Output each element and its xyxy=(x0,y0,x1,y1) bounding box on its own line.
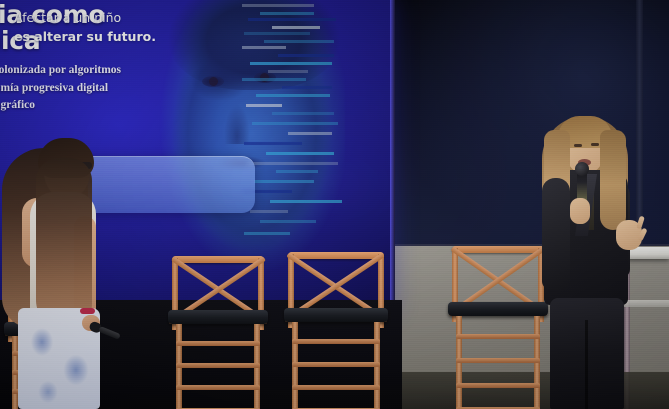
stool-rung xyxy=(176,385,260,390)
slide-callout-text: Afectar a un niño es alterar su futuro. xyxy=(14,8,184,46)
speaker-arm-left xyxy=(542,178,570,290)
stool-seat-cushion xyxy=(284,308,388,322)
slide-bullets: nación colonizada por algoritmos y auton… xyxy=(0,62,208,115)
stool-rung xyxy=(292,385,380,390)
slide-bullet-1: y autonomía progresiva digital xyxy=(0,80,208,98)
speaker-trouser-seam xyxy=(585,320,588,409)
speaker-hair-right xyxy=(600,130,626,230)
mic-head-right xyxy=(575,162,589,176)
stool-rung xyxy=(292,339,380,344)
slide-bullet-0: nación colonizada por algoritmos xyxy=(0,62,208,80)
screen-right-edge xyxy=(390,0,395,312)
person-attendee-left xyxy=(0,140,116,409)
stage-photo: ncia como única nación colonizada por al… xyxy=(0,0,669,409)
speaker-eye-right xyxy=(591,143,599,146)
stool-rung xyxy=(292,362,380,367)
bar-stool xyxy=(172,256,264,409)
bar-stool xyxy=(288,252,384,409)
callout-line-2: es alterar su futuro. xyxy=(14,27,184,46)
stool-seat-cushion xyxy=(168,310,268,324)
speaker-eye-left xyxy=(574,144,582,147)
attendee-hair-front xyxy=(36,158,92,330)
attendee-wristband xyxy=(80,308,95,314)
callout-line-1: Afectar a un niño xyxy=(14,8,184,27)
stool-top-rail xyxy=(172,256,264,263)
slide-bullet-2: daño biográfico xyxy=(0,97,208,115)
person-speaker-right xyxy=(520,112,650,409)
stool-rung xyxy=(176,341,260,346)
stool-rung xyxy=(176,363,260,368)
speaker-hand-holding-mic xyxy=(570,198,590,224)
stool-top-rail xyxy=(288,252,384,259)
